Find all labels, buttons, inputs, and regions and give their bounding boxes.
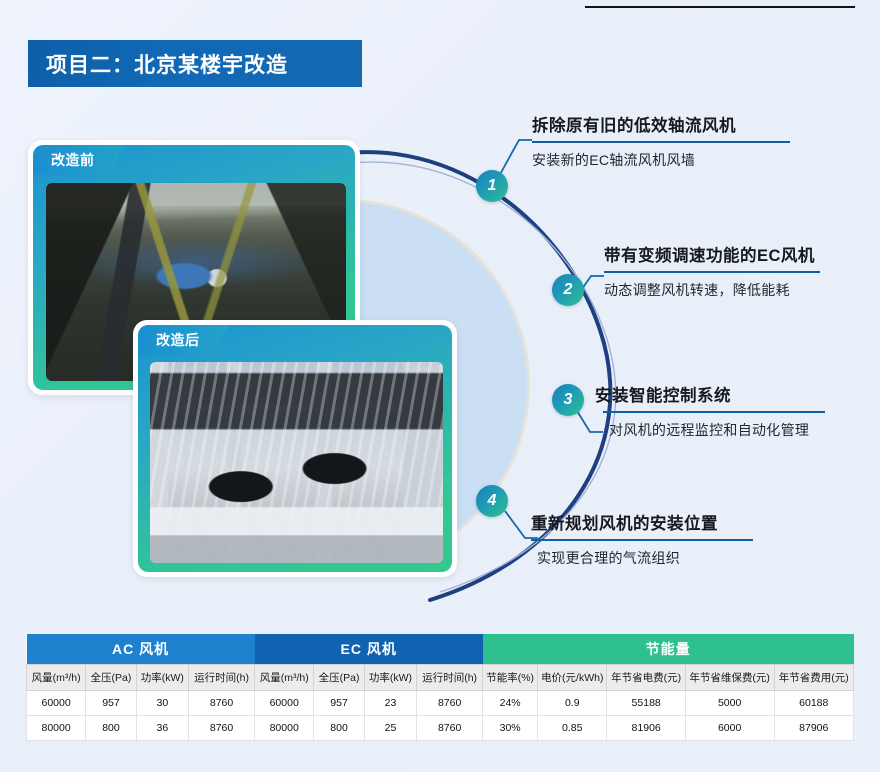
table-cell: 80000 <box>27 715 86 740</box>
table-cell: 25 <box>364 715 416 740</box>
group-header-ac: AC 风机 <box>27 634 255 664</box>
column-header: 年节省维保费(元) <box>685 664 774 690</box>
step-marker-1[interactable]: 1 <box>476 170 508 202</box>
table-cell: 8760 <box>188 715 254 740</box>
table-cell: 957 <box>314 690 365 715</box>
table-cell: 60000 <box>255 690 314 715</box>
table-cell: 80000 <box>255 715 314 740</box>
table-cell: 800 <box>86 715 137 740</box>
column-header: 运行时间(h) <box>417 664 483 690</box>
step-title-3: 安装智能控制系统 <box>595 382 880 406</box>
step-number-3: 3 <box>564 391 573 409</box>
step-desc-2: 动态调整风机转速，降低能耗 <box>604 280 880 300</box>
table-cell: 60000 <box>27 690 86 715</box>
step-number-4: 4 <box>488 492 497 510</box>
table-cell: 60188 <box>774 690 854 715</box>
photo-tag-after: 改造后 <box>138 325 230 355</box>
column-header: 风量(m³/h) <box>27 664 86 690</box>
column-header: 功率(kW) <box>136 664 188 690</box>
table-cell: 6000 <box>685 715 774 740</box>
step-title-4: 重新规划风机的安装位置 <box>531 510 831 534</box>
column-header: 风量(m³/h) <box>255 664 314 690</box>
column-header: 年节省电费(元) <box>607 664 685 690</box>
table-column-header-row: 风量(m³/h)全压(Pa)功率(kW)运行时间(h)风量(m³/h)全压(Pa… <box>27 664 854 690</box>
step-text-2: 带有变频调速功能的EC风机 动态调整风机转速，降低能耗 <box>604 242 880 300</box>
table-cell: 55188 <box>607 690 685 715</box>
step-desc-1: 安装新的EC轴流风机风墙 <box>532 150 832 170</box>
step-rule-3 <box>603 411 825 413</box>
table-cell: 30 <box>136 690 188 715</box>
table-cell: 8760 <box>417 715 483 740</box>
photo-tag-before: 改造前 <box>33 145 125 175</box>
table-cell: 800 <box>314 715 365 740</box>
step-title-1: 拆除原有旧的低效轴流风机 <box>532 112 832 136</box>
table-cell: 36 <box>136 715 188 740</box>
table-group-header-row: AC 风机 EC 风机 节能量 <box>27 634 854 664</box>
table-cell: 23 <box>364 690 416 715</box>
column-header: 节能率(%) <box>483 664 538 690</box>
step-number-1: 1 <box>488 177 497 195</box>
step-rule-4 <box>531 539 753 541</box>
column-header: 年节省费用(元) <box>774 664 854 690</box>
table-cell: 0.9 <box>538 690 607 715</box>
column-header: 全压(Pa) <box>314 664 365 690</box>
step-title-2: 带有变频调速功能的EC风机 <box>604 242 880 266</box>
table-cell: 24% <box>483 690 538 715</box>
step-text-3: 安装智能控制系统 对风机的远程监控和自动化管理 <box>595 382 880 440</box>
step-rule-1 <box>532 141 790 143</box>
column-header: 电价(元/kWh) <box>538 664 607 690</box>
table-cell: 8760 <box>188 690 254 715</box>
table-body: 600009573087606000095723876024%0.9551885… <box>27 690 854 740</box>
step-desc-3: 对风机的远程监控和自动化管理 <box>609 420 880 440</box>
table-cell: 0.85 <box>538 715 607 740</box>
step-rule-2 <box>604 271 820 273</box>
step-marker-2[interactable]: 2 <box>552 274 584 306</box>
group-header-savings: 节能量 <box>483 634 854 664</box>
step-marker-3[interactable]: 3 <box>552 384 584 416</box>
kpi-table-wrapper: AC 风机 EC 风机 节能量 风量(m³/h)全压(Pa)功率(kW)运行时间… <box>26 634 854 741</box>
column-header: 运行时间(h) <box>188 664 254 690</box>
kpi-table: AC 风机 EC 风机 节能量 风量(m³/h)全压(Pa)功率(kW)运行时间… <box>26 634 854 741</box>
table-cell: 30% <box>483 715 538 740</box>
table-cell: 87906 <box>774 715 854 740</box>
group-header-ec: EC 风机 <box>255 634 483 664</box>
table-cell: 5000 <box>685 690 774 715</box>
step-text-1: 拆除原有旧的低效轴流风机 安装新的EC轴流风机风墙 <box>532 112 832 170</box>
step-text-4: 重新规划风机的安装位置 实现更合理的气流组织 <box>531 510 831 568</box>
table-cell: 81906 <box>607 715 685 740</box>
table-cell: 957 <box>86 690 137 715</box>
column-header: 功率(kW) <box>364 664 416 690</box>
table-cell: 8760 <box>417 690 483 715</box>
table-row: 800008003687608000080025876030%0.8581906… <box>27 715 854 740</box>
step-number-2: 2 <box>564 281 573 299</box>
column-header: 全压(Pa) <box>86 664 137 690</box>
infographic-page: 项目二：北京某楼宇改造 改造前 改造后 1 拆除原有旧的低效轴流风机 <box>0 0 880 772</box>
step-desc-4: 实现更合理的气流组织 <box>537 548 831 568</box>
step-marker-4[interactable]: 4 <box>476 485 508 517</box>
table-row: 600009573087606000095723876024%0.9551885… <box>27 690 854 715</box>
